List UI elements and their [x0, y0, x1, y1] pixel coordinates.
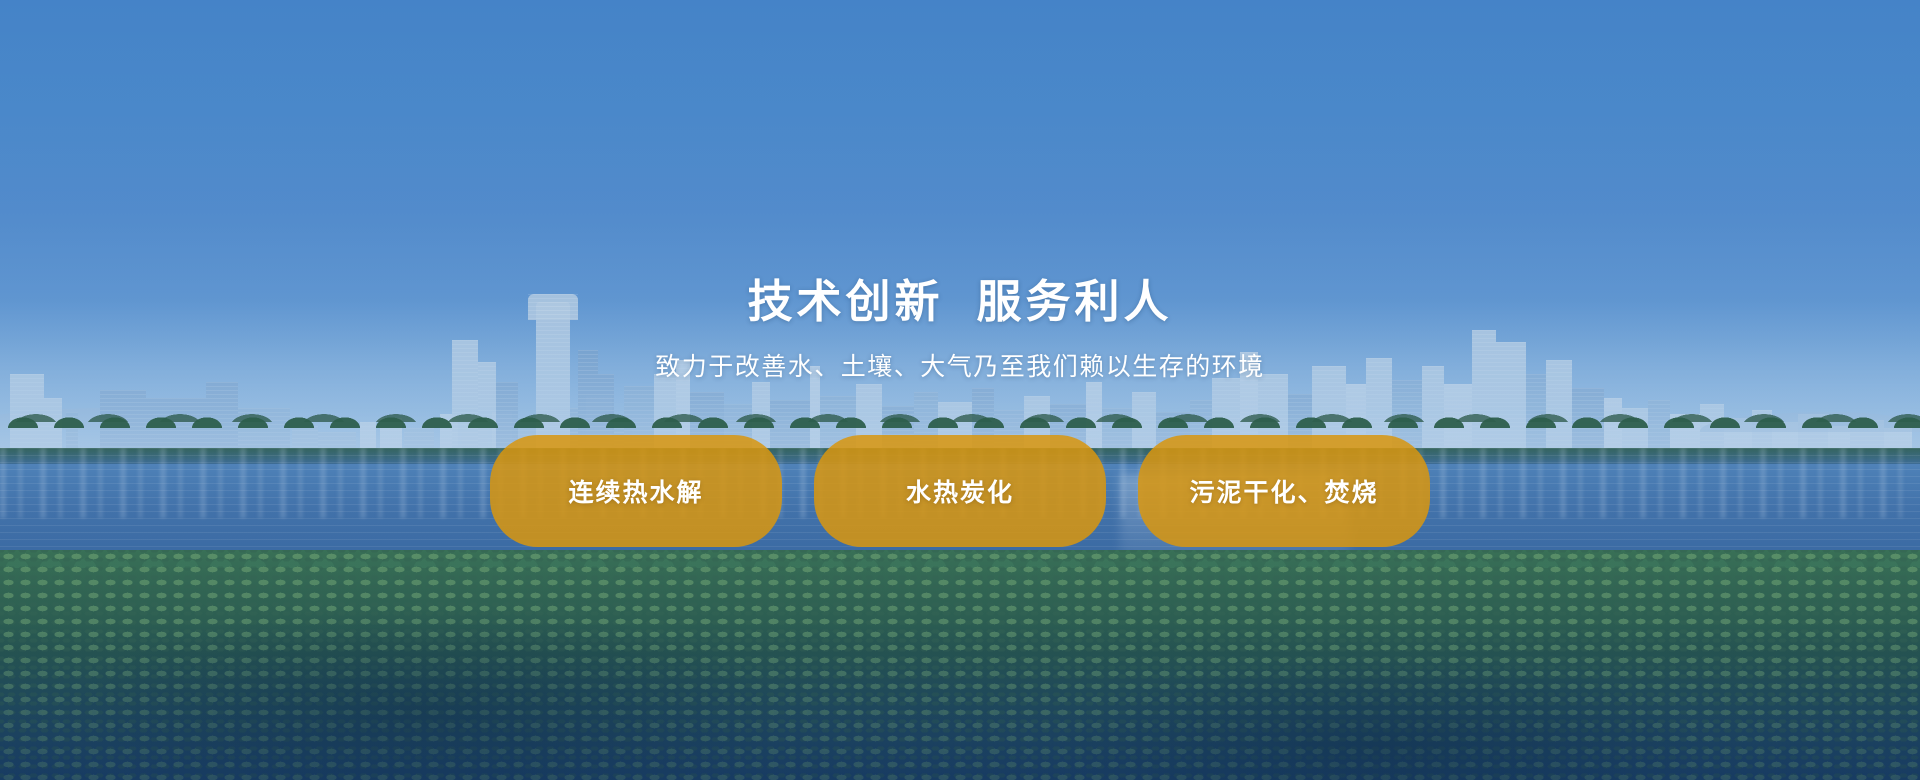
service-button-row: 连续热水解 水热炭化 污泥干化、焚烧: [490, 435, 1430, 547]
page-title: 技术创新 服务利人: [747, 265, 1172, 330]
hero-content: 技术创新 服务利人 致力于改善水、土壤、大气乃至我们赖以生存的环境 连续热水解 …: [0, 0, 1920, 780]
hero-banner: 技术创新 服务利人 致力于改善水、土壤、大气乃至我们赖以生存的环境 连续热水解 …: [0, 0, 1920, 780]
service-button-continuous-thermal-hydrolysis[interactable]: 连续热水解: [490, 435, 782, 547]
service-button-hydrothermal-carbonization[interactable]: 水热炭化: [814, 435, 1106, 547]
hero-subtitle: 致力于改善水、土壤、大气乃至我们赖以生存的环境: [655, 347, 1265, 383]
service-button-sludge-drying-incineration[interactable]: 污泥干化、焚烧: [1138, 435, 1430, 547]
